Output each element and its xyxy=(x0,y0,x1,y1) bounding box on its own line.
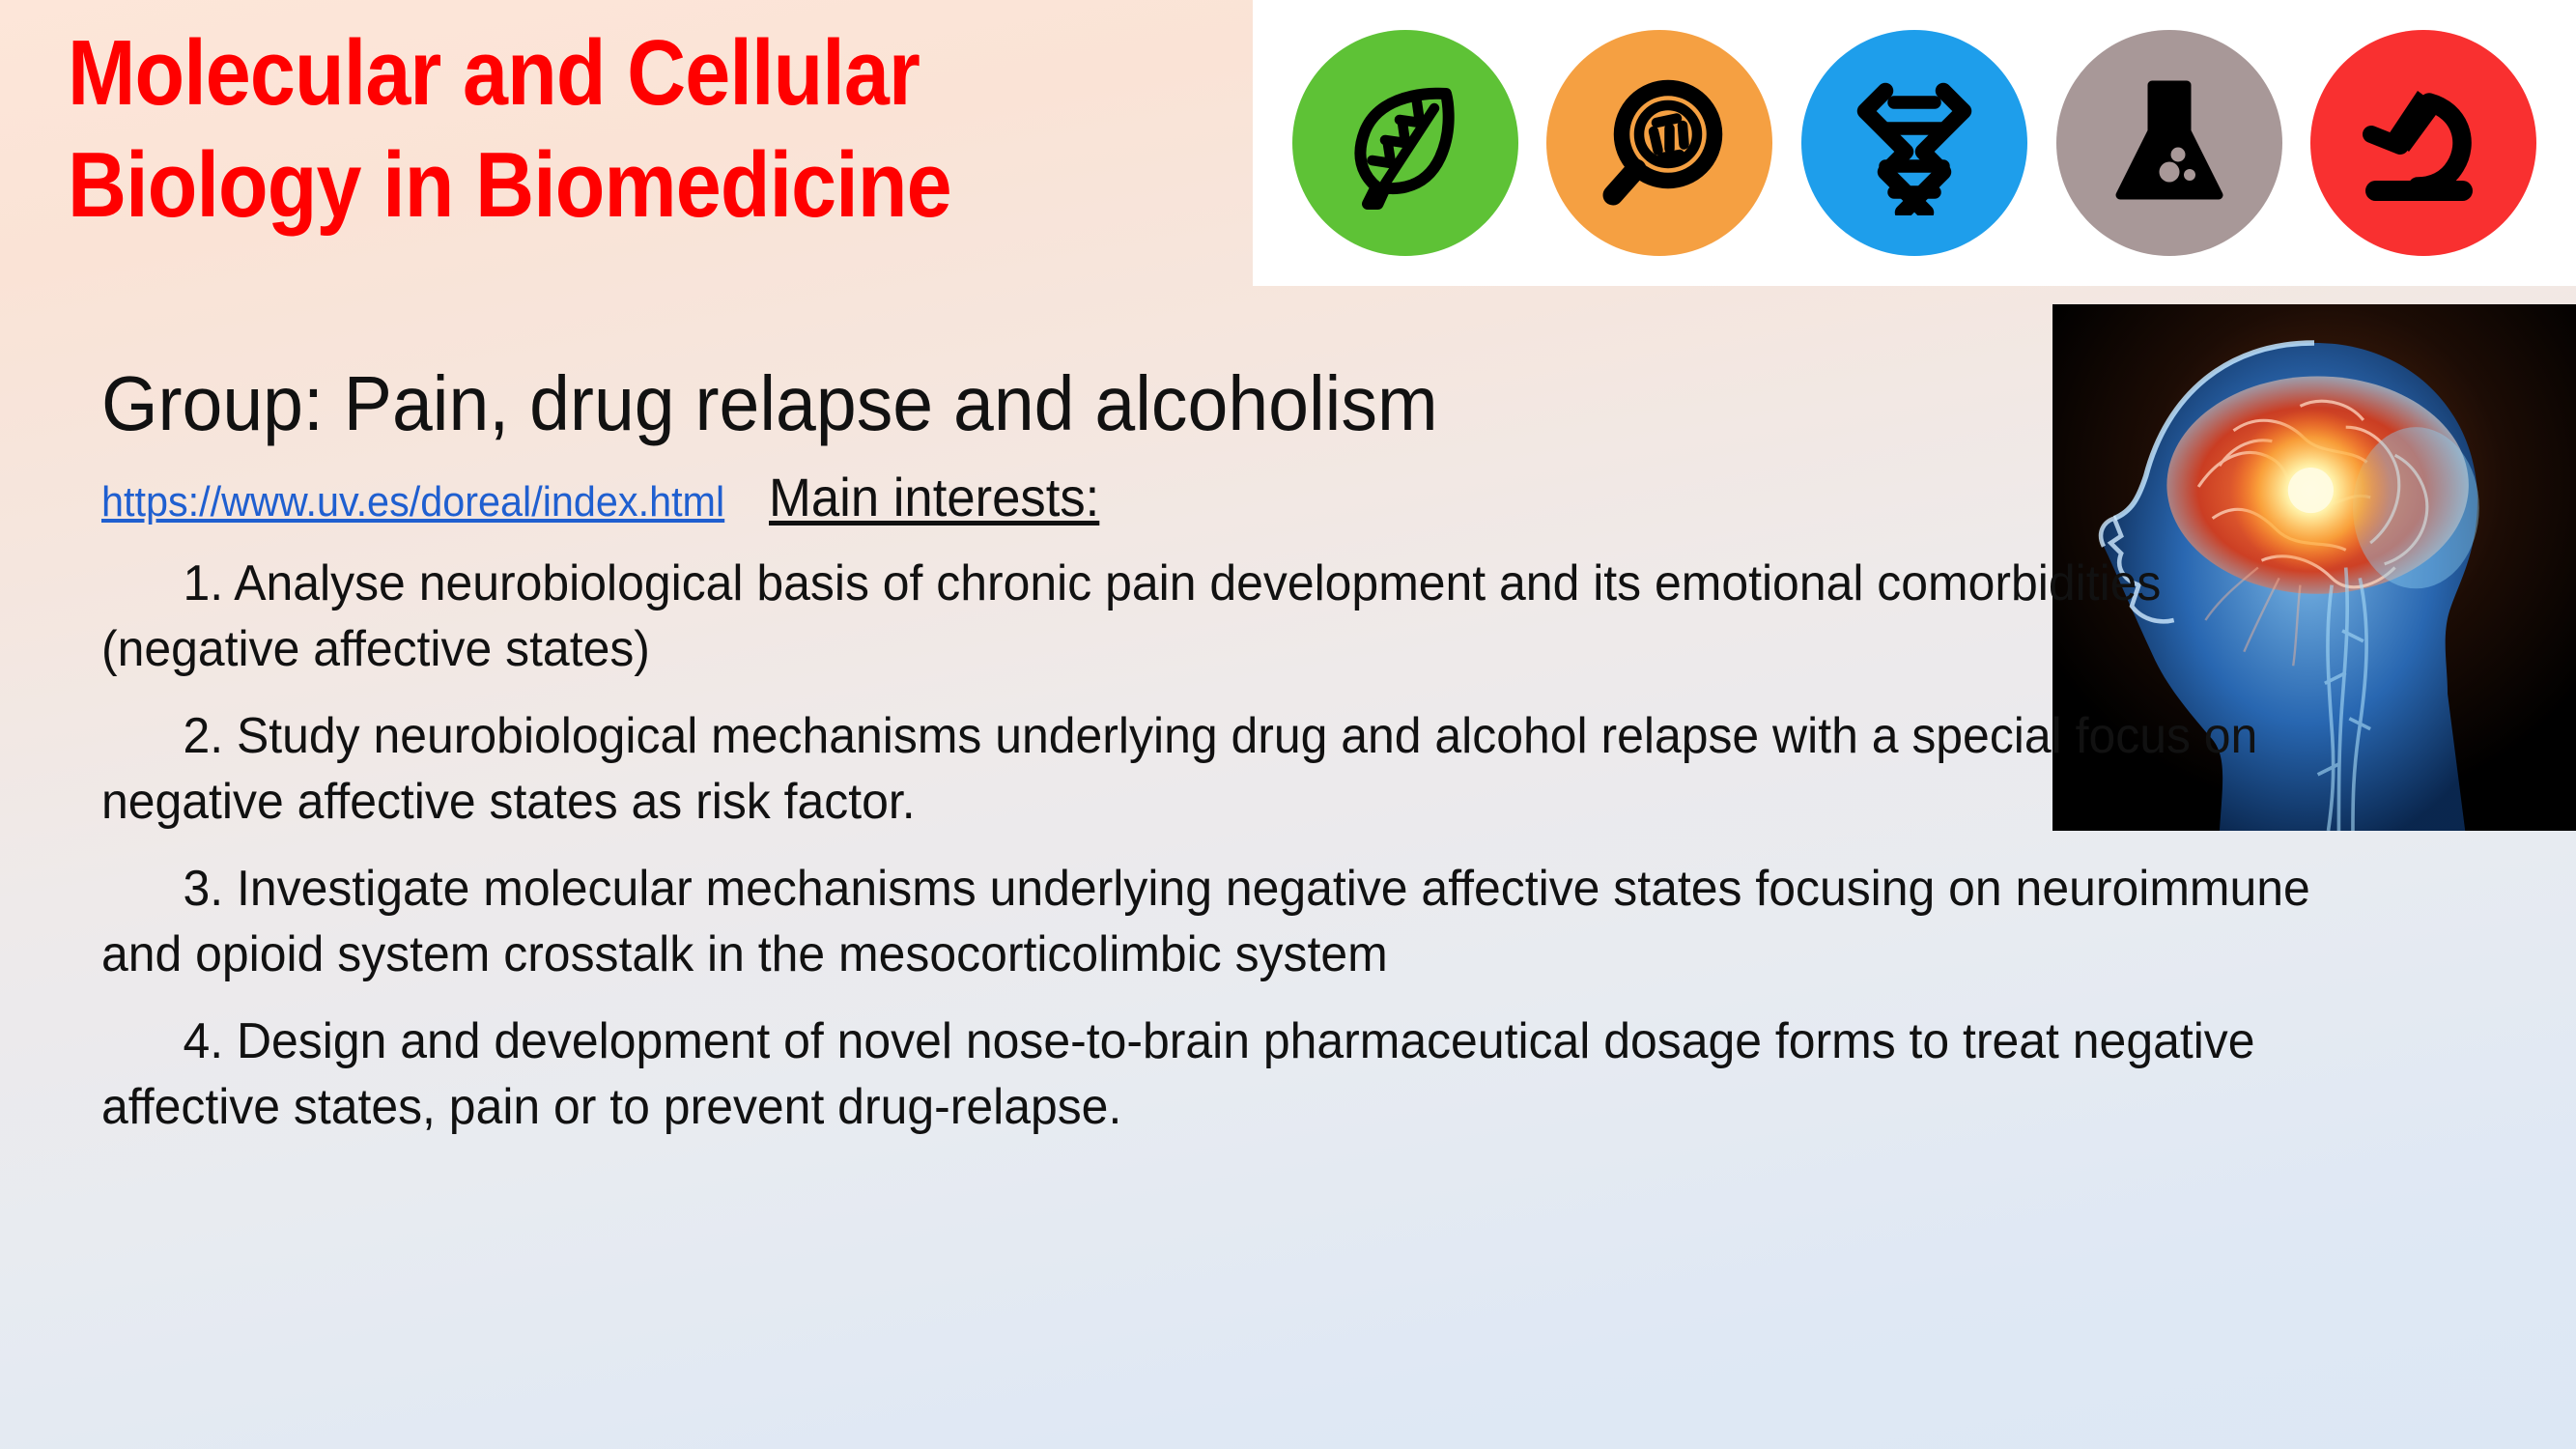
interest-item-3: 3. Investigate molecular mechanisms unde… xyxy=(101,856,2327,987)
microbe-magnifier-icon-circle xyxy=(1546,30,1772,256)
dna-helix-icon xyxy=(1842,71,1987,215)
microbe-magnifier-icon xyxy=(1587,71,1732,215)
icon-banner xyxy=(1253,0,2576,286)
group-heading: Group: Pain, drug relapse and alcoholism xyxy=(101,359,2344,448)
title-line-2: Biology in Biomedicine xyxy=(68,129,1113,241)
interest-item-1: 1. Analyse neurobiological basis of chro… xyxy=(101,551,2327,682)
interest-item-2: 2. Study neurobiological mechanisms unde… xyxy=(101,703,2327,835)
flask-icon xyxy=(2097,71,2242,215)
content-area: Group: Pain, drug relapse and alcoholism… xyxy=(101,359,2487,1161)
title-line-1: Molecular and Cellular xyxy=(68,17,1113,129)
slide-canvas: Molecular and Cellular Biology in Biomed… xyxy=(0,0,2576,1449)
page-title: Molecular and Cellular Biology in Biomed… xyxy=(68,17,1256,241)
interest-item-4: 4. Design and development of novel nose-… xyxy=(101,1009,2327,1140)
microscope-icon xyxy=(2351,71,2496,215)
group-website-link[interactable]: https://www.uv.es/doreal/index.html xyxy=(101,474,724,530)
microscope-icon-circle xyxy=(2310,30,2536,256)
leaf-icon xyxy=(1333,71,1478,215)
flask-icon-circle xyxy=(2056,30,2282,256)
interest-list: 1. Analyse neurobiological basis of chro… xyxy=(101,551,2487,1140)
dna-helix-icon-circle xyxy=(1801,30,2027,256)
leaf-icon-circle xyxy=(1292,30,1518,256)
main-interests-label: Main interests: xyxy=(769,462,1099,533)
